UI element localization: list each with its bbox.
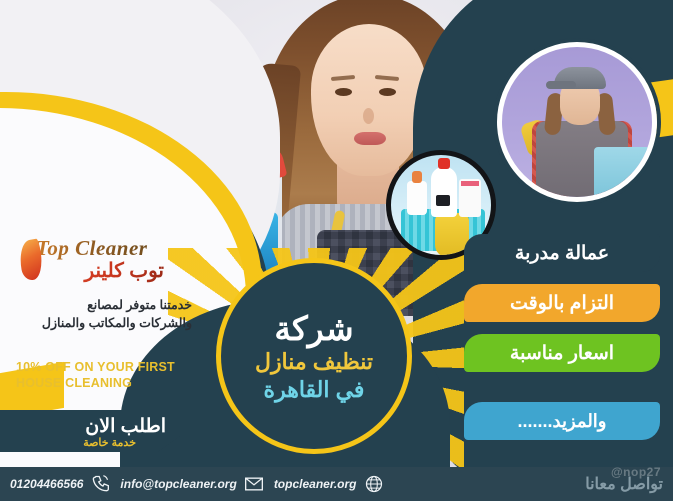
feature-pill-fair-prices: اسعار مناسبة: [464, 334, 660, 372]
headline-line-3: في القاهرة: [264, 379, 365, 401]
model-eye-left: [335, 88, 352, 96]
services-line-1: خدمتنا متوفر لمصانع: [22, 296, 192, 314]
advertisement-poster: Top Cleaner توب كلينر خدمتنا متوفر لمصان…: [0, 0, 673, 501]
model-face: [311, 24, 427, 176]
feature-pill-trained-staff: عمالة مدربة: [464, 234, 660, 272]
services-description: خدمتنا متوفر لمصانع والشركات والمكاتب وا…: [22, 296, 192, 332]
headline-circle: شركة تنظيف منازل في القاهرة: [216, 258, 412, 454]
worker-cap: [554, 67, 606, 89]
blue-bucket-icon: [594, 147, 650, 202]
model-eyebrow-right: [375, 75, 399, 81]
contact-website[interactable]: topcleaner.org: [274, 474, 384, 494]
phone-icon: [90, 474, 110, 494]
model-lips: [354, 132, 386, 145]
email-address: info@topcleaner.org: [120, 477, 236, 491]
services-line-2: والشركات والمكاتب والمنازل: [22, 314, 192, 332]
discount-line-1: 10% OFF ON YOUR FIRST: [16, 360, 196, 376]
brand-name-ar: توب كلينر: [36, 258, 164, 283]
contact-phone[interactable]: 01204466566: [10, 474, 110, 494]
order-now-label: اطلب الان: [85, 415, 166, 438]
contact-bar: 01204466566 info@topcleaner.org topclean…: [0, 467, 673, 501]
feature-pill-punctuality: التزام بالوقت: [464, 284, 660, 322]
watermark-text: @nop27: [611, 465, 661, 479]
globe-icon: [364, 474, 384, 494]
discount-line-2: HOUSE CLEANING: [16, 376, 196, 392]
model-eye-right: [379, 88, 396, 96]
envelope-icon: [244, 474, 264, 494]
model-nose: [363, 108, 374, 124]
discount-offer: 10% OFF ON YOUR FIRST HOUSE CLEANING: [16, 360, 196, 391]
phone-number: 01204466566: [10, 477, 83, 491]
order-now-sublabel: خدمة خاصة: [83, 436, 136, 449]
headline-line-2: تنظيف منازل: [255, 351, 373, 373]
contact-email[interactable]: info@topcleaner.org: [120, 474, 263, 494]
spray-can-icon: [459, 179, 481, 217]
pump-bottle-icon: [407, 181, 427, 215]
cleaner-bottle-icon: [431, 167, 457, 217]
website-url: topcleaner.org: [274, 477, 357, 491]
headline-line-1: شركة: [274, 312, 353, 345]
worker-photo-circle: [497, 42, 657, 202]
model-eyebrow-left: [331, 75, 355, 81]
feature-pill-more: والمزيد.......: [464, 402, 660, 440]
order-now-badge[interactable]: اطلب الان خدمة خاصة: [0, 410, 180, 452]
brand-logo[interactable]: Top Cleaner توب كلينر: [14, 236, 164, 283]
